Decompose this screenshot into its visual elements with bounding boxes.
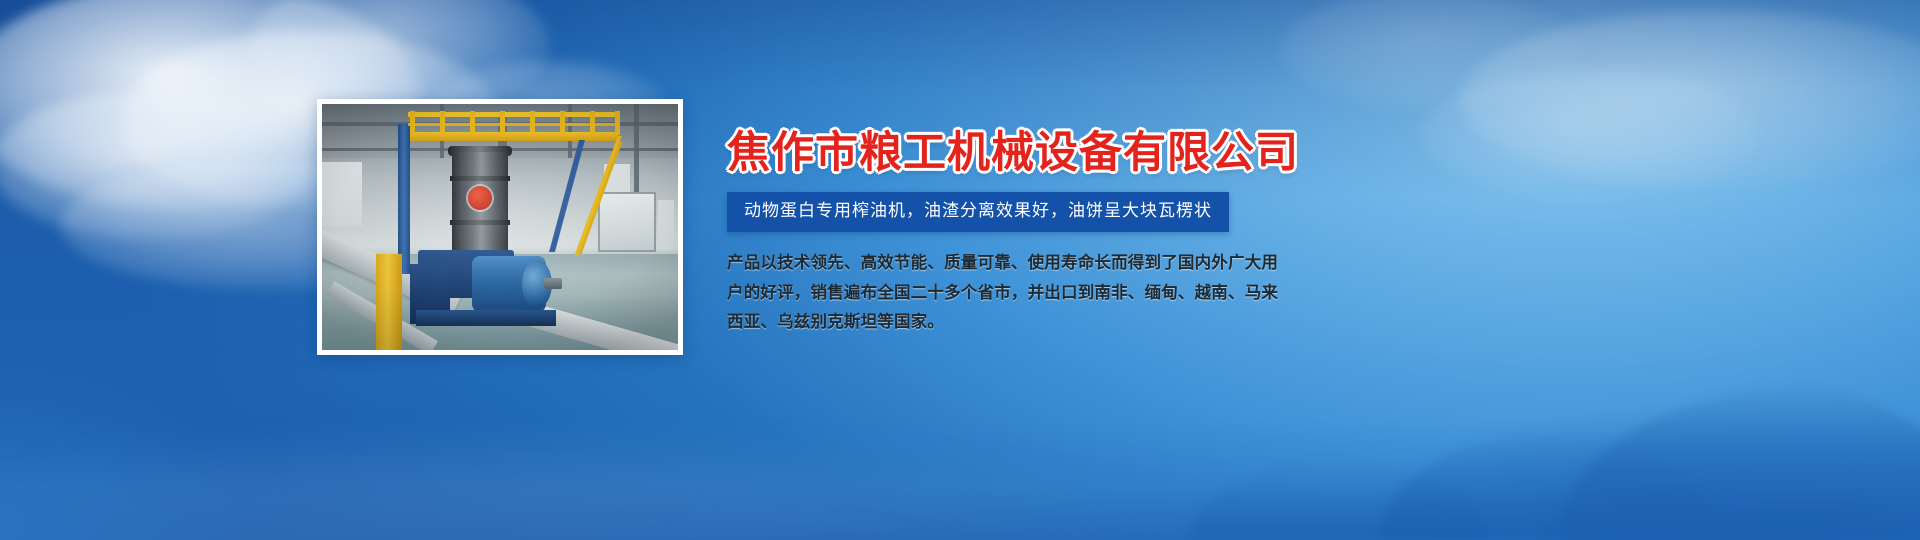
promo-banner: 焦作市粮工机械设备有限公司 动物蛋白专用榨油机，油渣分离效果好，油饼呈大块瓦楞状… bbox=[0, 0, 1920, 540]
banner-text-column: 焦作市粮工机械设备有限公司 动物蛋白专用榨油机，油渣分离效果好，油饼呈大块瓦楞状… bbox=[727, 130, 1327, 337]
company-title: 焦作市粮工机械设备有限公司 bbox=[727, 130, 1327, 176]
factory-workshop-photo bbox=[322, 104, 678, 350]
photo-vignette bbox=[322, 104, 678, 350]
product-photo-card[interactable] bbox=[317, 99, 683, 355]
company-description: 产品以技术领先、高效节能、质量可靠、使用寿命长而得到了国内外广大用户的好评，销售… bbox=[727, 248, 1279, 336]
tagline-badge: 动物蛋白专用榨油机，油渣分离效果好，油饼呈大块瓦楞状 bbox=[727, 192, 1229, 232]
